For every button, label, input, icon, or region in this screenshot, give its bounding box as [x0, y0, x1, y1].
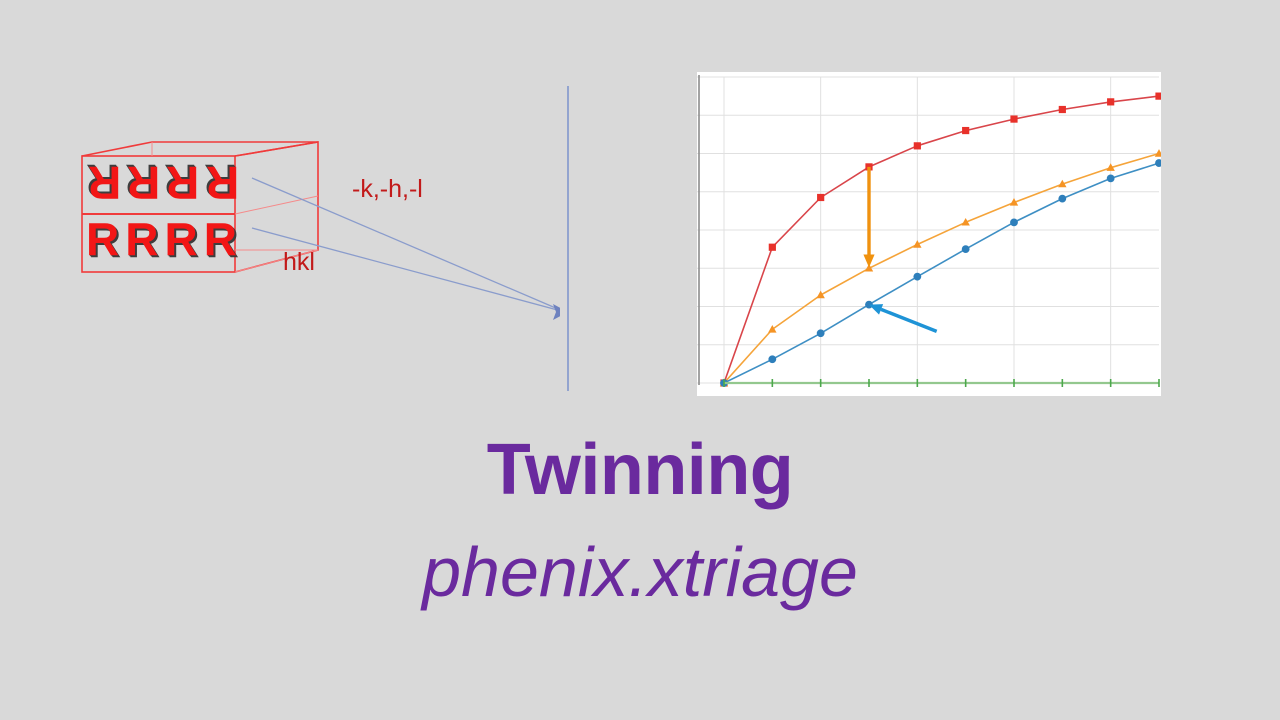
data-point-marker	[1107, 174, 1115, 182]
data-point-marker	[1059, 106, 1066, 113]
letter-glyph: R	[88, 160, 121, 206]
slide-root: R R R R R R R R -k,-h,-l hkl Twinning ph…	[0, 0, 1280, 720]
data-point-marker	[1010, 115, 1017, 122]
plot-background	[697, 72, 1161, 396]
data-point-marker	[817, 194, 824, 201]
page-subtitle: phenix.xtriage	[0, 537, 1280, 607]
twin-crystal-diagram: R R R R R R R R -k,-h,-l hkl	[0, 0, 560, 420]
data-point-marker	[769, 244, 776, 251]
original-domain-letters-row: R R R R	[86, 216, 243, 262]
letter-glyph: R	[86, 216, 119, 262]
domain-pointer-arrowhead	[553, 304, 560, 320]
data-point-marker	[817, 329, 825, 337]
letter-glyph: R	[125, 216, 158, 262]
page-title: Twinning	[0, 434, 1280, 506]
data-point-marker	[1058, 195, 1066, 203]
data-point-marker	[1107, 98, 1114, 105]
letter-glyph: R	[127, 160, 160, 206]
cumulative-intensity-chart	[697, 72, 1161, 396]
twin-domain-letters-row: R R R R	[88, 160, 245, 206]
data-point-marker	[1010, 218, 1018, 226]
letter-glyph: R	[164, 216, 197, 262]
twin-domain-label: -k,-h,-l	[352, 175, 423, 204]
data-point-marker	[914, 142, 921, 149]
letter-glyph: R	[204, 216, 237, 262]
original-domain-label: hkl	[283, 248, 315, 277]
data-point-marker	[913, 273, 921, 281]
chart-plot-area	[697, 72, 1161, 396]
data-point-marker	[962, 127, 969, 134]
data-point-marker	[768, 355, 776, 363]
letter-glyph: R	[206, 160, 239, 206]
twin-box-svg	[0, 0, 560, 420]
data-point-marker	[962, 245, 970, 253]
letter-glyph: R	[166, 160, 199, 206]
vertical-divider	[567, 86, 569, 391]
data-point-marker	[1155, 93, 1161, 100]
